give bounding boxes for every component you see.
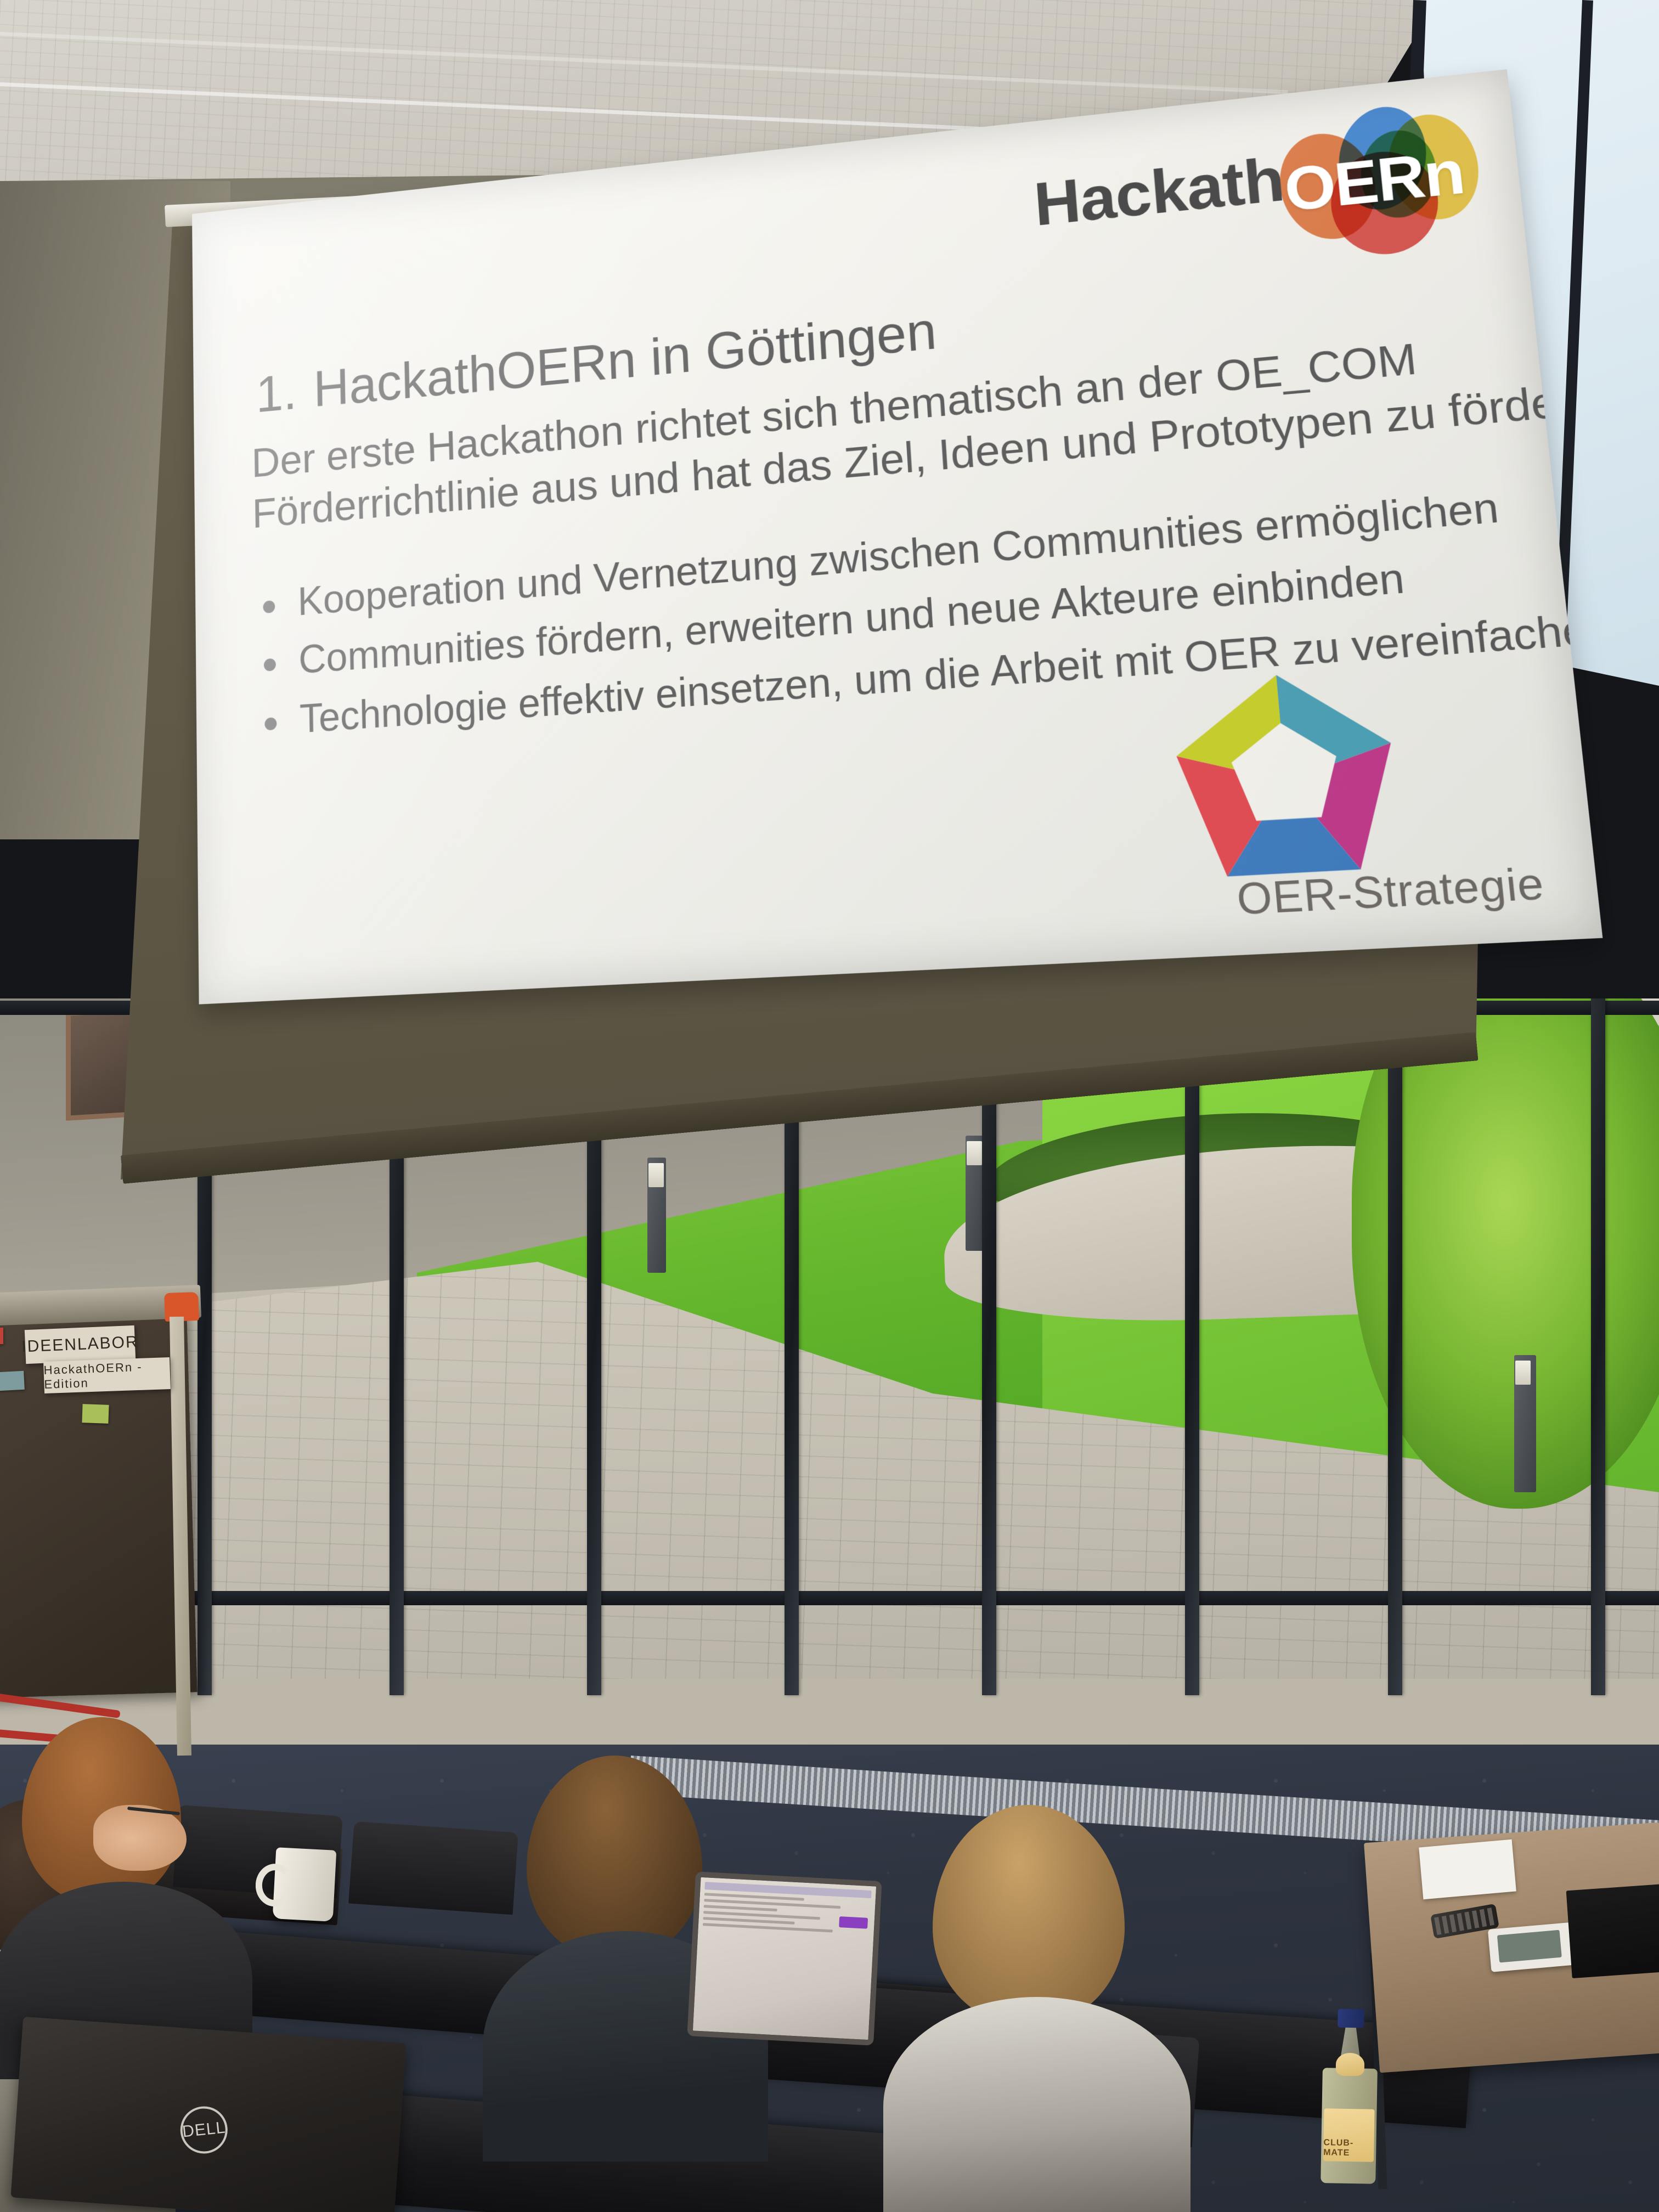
laptop-screen-content [693,1877,876,2040]
pinboard-sticky-note [82,1404,109,1424]
transom [0,1591,1659,1605]
pinboard-sticky-note [0,1328,3,1344]
pinboard-sign-hackathoern-edition: HackathOERn - Edition [43,1357,171,1393]
printed-sheet [1419,1839,1516,1899]
bottle-brand-text: CLUB-MATE [1323,2138,1374,2162]
equipment-box [1566,1884,1659,1978]
seat-backrest [348,1821,518,1915]
bottle-cap [1338,2009,1364,2028]
bottle-label: CLUB-MATE [1323,2108,1375,2162]
dell-logo-icon: DELL [178,2104,230,2156]
pinboard-sticky-note [0,1371,25,1391]
open-laptop-macbook [687,1871,882,2045]
coffee-mug [273,1847,337,1922]
presentation-slide: Hackath OERn 1.HackathOERn in Göttingen [192,69,1602,1004]
projection-screen: Hackath OERn 1.HackathOERn in Göttingen [121,148,1503,1223]
slide-title-number: 1. [256,362,314,424]
stand-foot [0,1691,121,1718]
oer-strategie-logo: OER-Strategie [1152,645,1540,942]
hackathoern-logo-blobs: OERn [1268,97,1486,242]
person-shoulders [883,1997,1190,2212]
laptop-ui-line [704,1905,777,1911]
control-panel-display[interactable] [1497,1930,1562,1963]
bottle-neck-label [1336,2053,1365,2076]
pinboard-sign-ideenlabor: IDEENLABOR [25,1325,136,1364]
club-mate-bottle: CLUB-MATE [1321,2007,1379,2184]
mullion [1591,998,1605,1695]
room-control-panel[interactable] [1488,1922,1579,1972]
hackathoern-logo-word-dark: Hackath [1032,148,1286,235]
photo-scene: Hackath OERn 1.HackathOERn in Göttingen [0,0,1659,2212]
laptop-screen [687,1871,882,2045]
laptop-ui-accent-button [839,1916,868,1929]
closed-laptop-dell: DELL [10,2017,406,2212]
hackathoern-logo: Hackath OERn [1030,101,1486,262]
laptop-ui-line [703,1923,833,1932]
person-face [93,1805,187,1871]
